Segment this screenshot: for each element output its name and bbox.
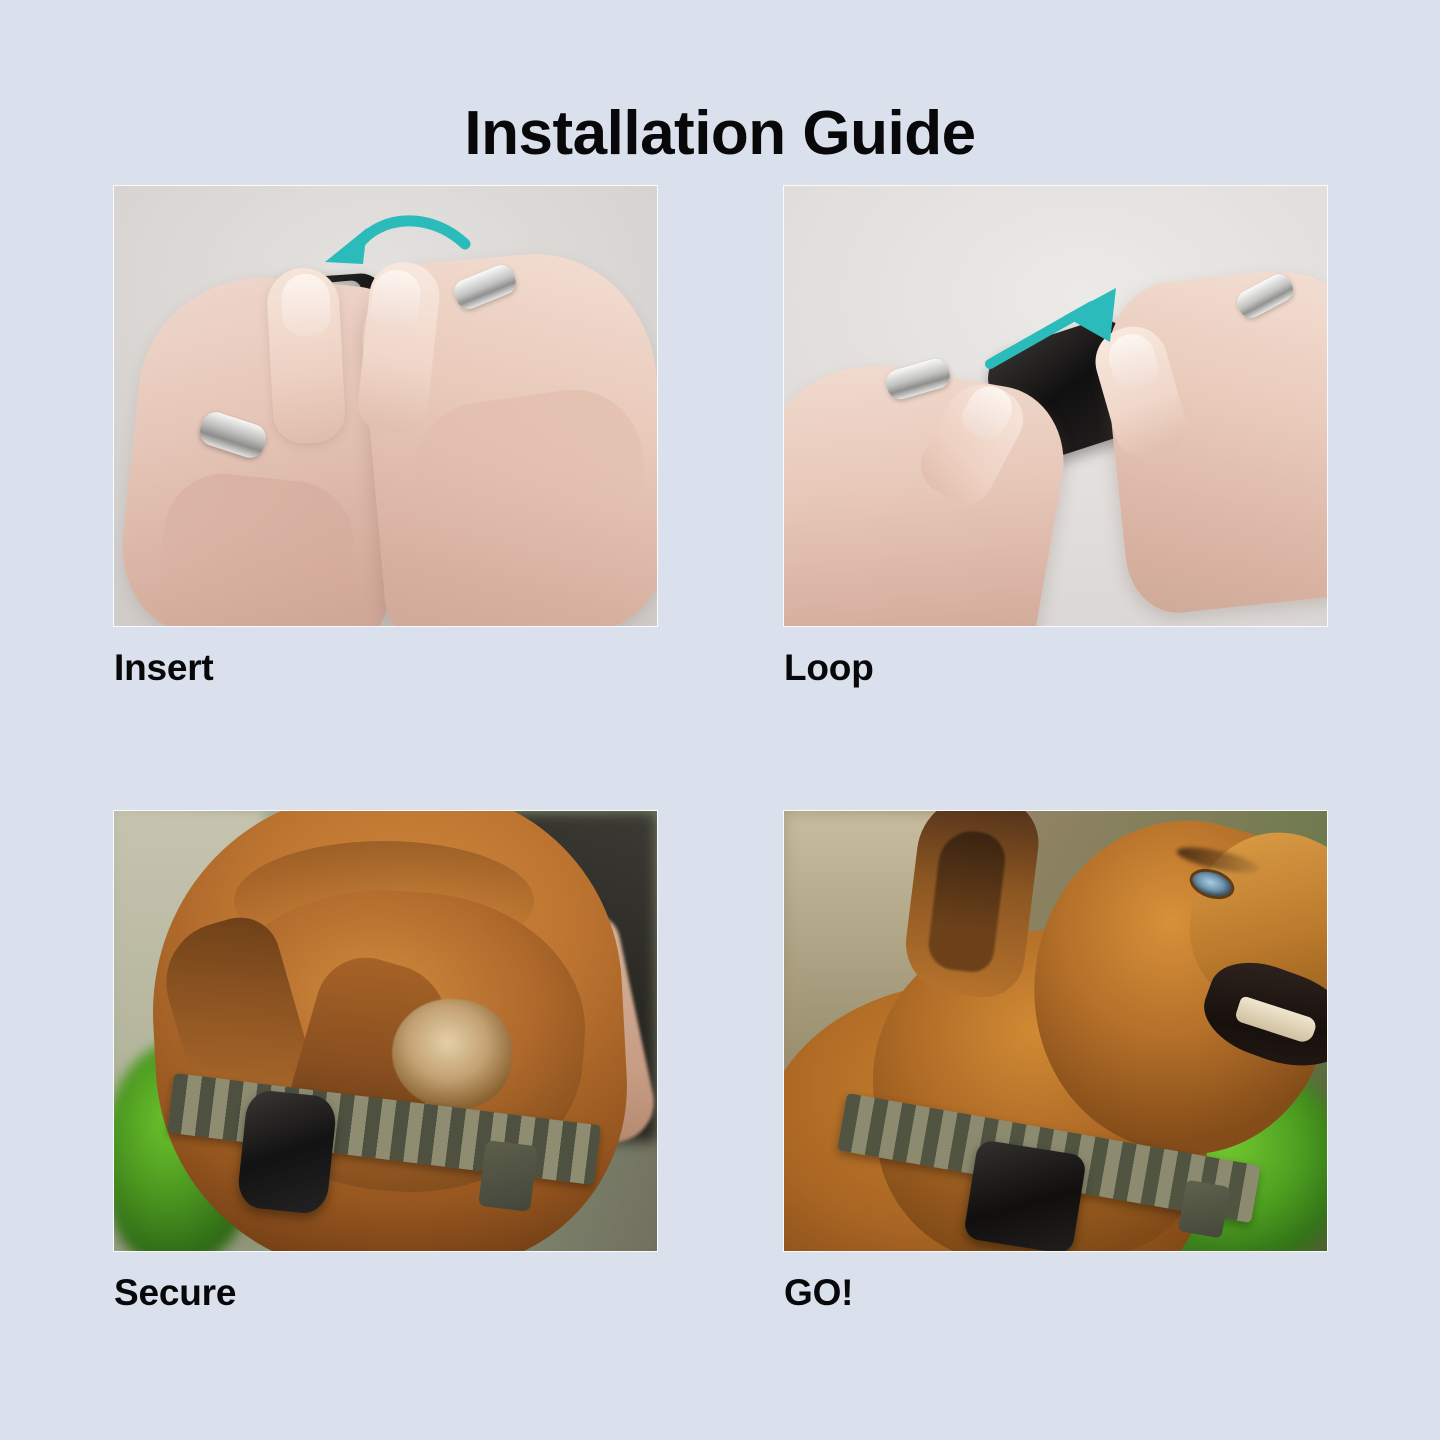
left-fingernail xyxy=(280,273,331,337)
step-label-loop: Loop xyxy=(784,646,1327,690)
step-photo-insert xyxy=(114,186,657,626)
step-card-insert: Insert xyxy=(114,186,657,690)
step-photo-secure xyxy=(114,811,657,1251)
installation-guide-page: Installation Guide xyxy=(0,0,1440,1440)
collar-buckle xyxy=(478,1140,538,1212)
step-label-secure: Secure xyxy=(114,1271,657,1315)
step-card-loop: Loop xyxy=(784,186,1327,690)
step-card-go: GO! xyxy=(784,811,1327,1315)
step-photo-go xyxy=(784,811,1327,1251)
step-label-go: GO! xyxy=(784,1271,1327,1315)
step-card-secure: Secure xyxy=(114,811,657,1315)
steps-grid: Insert Loop xyxy=(114,186,1327,1316)
collar-keeper-loop xyxy=(1178,1180,1230,1239)
step-photo-loop xyxy=(784,186,1327,626)
airtag-holder-black xyxy=(236,1089,338,1216)
page-title: Installation Guide xyxy=(0,100,1440,168)
step-label-insert: Insert xyxy=(114,646,657,690)
airtag-holder-black xyxy=(963,1139,1087,1251)
